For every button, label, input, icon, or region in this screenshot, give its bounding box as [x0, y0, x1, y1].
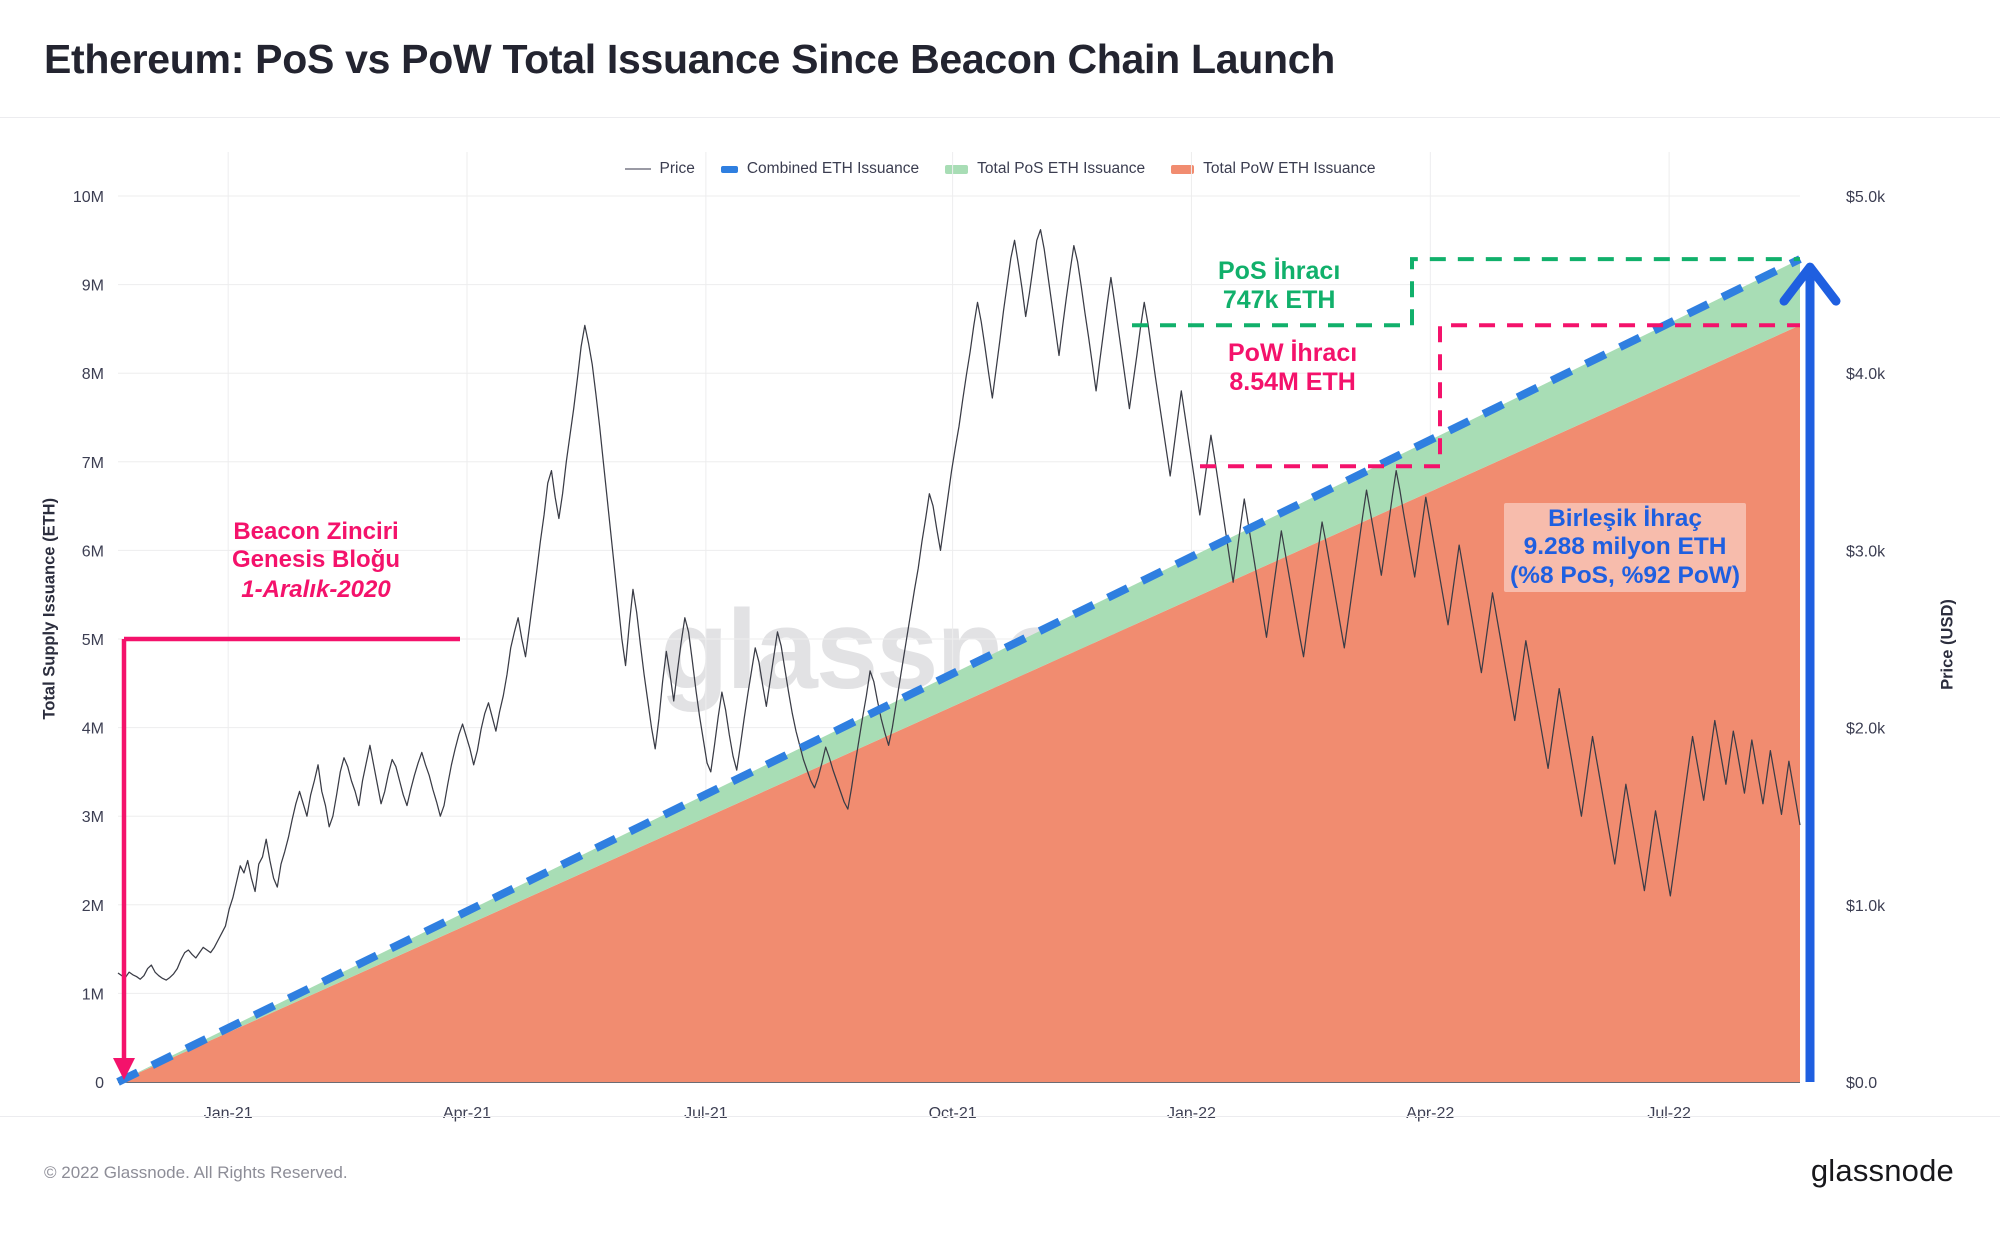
annotation-pos: PoS İhracı 747k ETH: [1218, 257, 1340, 315]
annotation-genesis: Beacon Zinciri Genesis Bloğu 1-Aralık-20…: [232, 518, 400, 603]
y-axis-title-left: Total Supply Issuance (ETH): [41, 540, 60, 720]
brand-logo: glassnode: [1811, 1153, 1954, 1189]
chart-page: Ethereum: PoS vs PoW Total Issuance Sinc…: [0, 0, 2000, 1238]
plot-area: 10M9M8M7M6M5M4M3M2M1M0$5.0k$4.0k$3.0k$2.…: [0, 0, 2000, 1238]
y-axis-tick-left: 3M: [82, 809, 104, 826]
y-axis-tick-right: $4.0k: [1846, 366, 1886, 383]
chart-svg: 10M9M8M7M6M5M4M3M2M1M0$5.0k$4.0k$3.0k$2.…: [0, 0, 2000, 1238]
footer-bar: © 2022 Glassnode. All Rights Reserved. g…: [0, 1116, 2000, 1238]
annotation-genesis-date: 1-Aralık-2020: [232, 576, 400, 604]
copyright-text: © 2022 Glassnode. All Rights Reserved.: [44, 1163, 348, 1183]
y-axis-tick-left: 0: [95, 1075, 104, 1092]
y-axis-tick-right: $1.0k: [1846, 898, 1886, 915]
y-axis-tick-left: 5M: [82, 632, 104, 649]
annotation-pow-line1: PoW İhracı: [1228, 339, 1357, 367]
annotation-combined-line2: 9.288 milyon ETH: [1524, 533, 1727, 560]
annotation-pos-line2: 747k ETH: [1223, 286, 1336, 314]
y-axis-tick-right: $2.0k: [1846, 721, 1886, 738]
annotation-pow: PoW İhracı 8.54M ETH: [1228, 339, 1357, 397]
annotation-combined: Birleşik İhraç 9.288 milyon ETH (%8 PoS,…: [1504, 503, 1746, 592]
annotation-pos-line1: PoS İhracı: [1218, 257, 1340, 285]
y-axis-tick-right: $3.0k: [1846, 543, 1886, 560]
annotation-genesis-line1: Beacon Zinciri: [233, 518, 398, 545]
y-axis-title-right: Price (USD): [1939, 575, 1958, 715]
y-axis-tick-left: 2M: [82, 898, 104, 915]
annotation-combined-line1: Birleşik İhraç: [1548, 505, 1702, 532]
y-axis-tick-left: 10M: [73, 189, 104, 206]
y-axis-tick-left: 7M: [82, 455, 104, 472]
y-axis-tick-left: 6M: [82, 543, 104, 560]
y-axis-tick-right: $0.0: [1846, 1075, 1877, 1092]
y-axis-tick-left: 8M: [82, 366, 104, 383]
y-axis-tick-right: $5.0k: [1846, 189, 1886, 206]
y-axis-tick-left: 9M: [82, 278, 104, 295]
annotation-combined-line3: (%8 PoS, %92 PoW): [1510, 562, 1740, 589]
annotation-pow-line2: 8.54M ETH: [1229, 368, 1355, 396]
annotation-genesis-line2: Genesis Bloğu: [232, 546, 400, 573]
y-axis-tick-left: 1M: [82, 986, 104, 1003]
y-axis-tick-left: 4M: [82, 721, 104, 738]
